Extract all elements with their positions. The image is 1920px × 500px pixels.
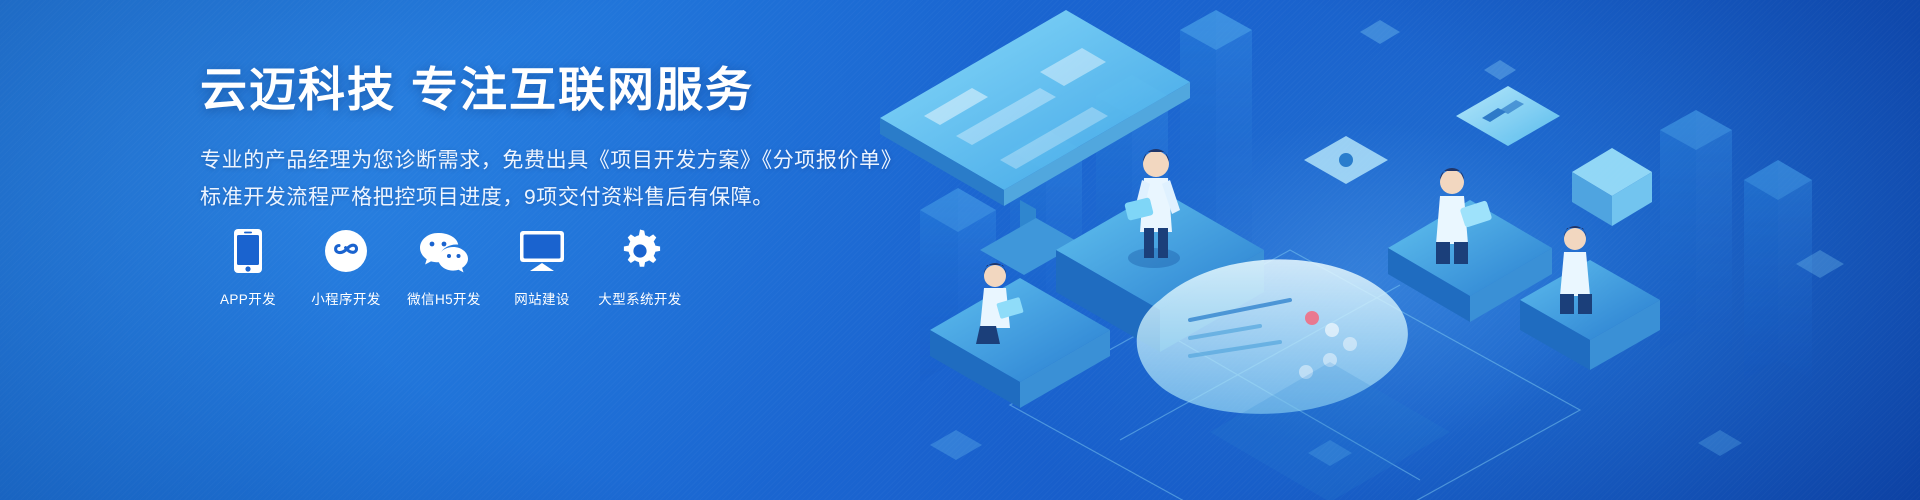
page-title: 云迈科技 专注互联网服务 — [200, 62, 960, 117]
subtitle-line-2: 标准开发流程严格把控项目进度，9项交付资料售后有保障。 — [200, 180, 960, 215]
monitor-icon — [519, 228, 565, 274]
wechat-icon — [419, 228, 469, 274]
gear-icon — [618, 228, 662, 274]
promo-banner: 云迈科技 专注互联网服务 专业的产品经理为您诊断需求，免费出具《项目开发方案》《… — [0, 0, 1920, 500]
service-item-app[interactable]: APP开发 — [200, 228, 296, 308]
isometric-team-dashboard-illustration — [860, 0, 1920, 500]
service-label-website: 网站建设 — [514, 288, 570, 308]
service-item-mini-program[interactable]: 小程序开发 — [298, 228, 394, 308]
subtitle-line-1: 专业的产品经理为您诊断需求，免费出具《项目开发方案》《分项报价单》 — [200, 143, 960, 178]
service-item-wechat-h5[interactable]: 微信H5开发 — [396, 228, 492, 308]
banner-copy: 云迈科技 专注互联网服务 专业的产品经理为您诊断需求，免费出具《项目开发方案》《… — [200, 62, 960, 215]
service-label-mini-program: 小程序开发 — [311, 288, 381, 308]
service-label-app: APP开发 — [220, 288, 276, 308]
service-list: APP开发 小程序开发 微信 — [200, 228, 690, 308]
mobile-phone-icon — [233, 228, 263, 274]
service-label-wechat-h5: 微信H5开发 — [407, 288, 481, 308]
mini-program-icon — [324, 228, 368, 274]
service-item-enterprise-system[interactable]: 大型系统开发 — [592, 228, 688, 308]
service-label-enterprise-system: 大型系统开发 — [598, 288, 681, 308]
service-item-website[interactable]: 网站建设 — [494, 228, 590, 308]
